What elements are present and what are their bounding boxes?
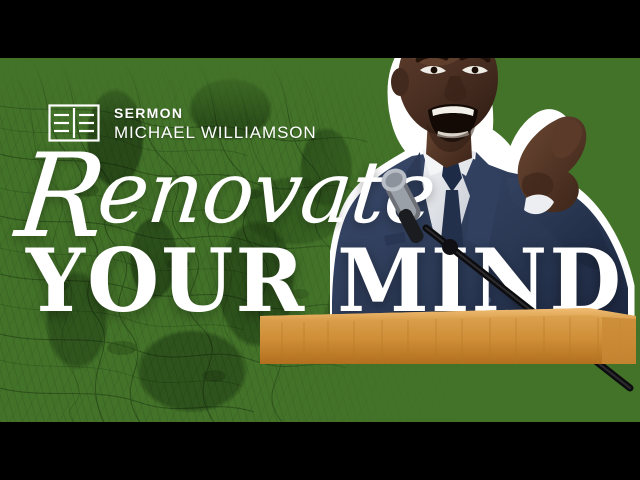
video-thumbnail: SERMON MICHAEL WILLIAMSON Renovate YOUR … — [0, 0, 640, 480]
open-book-icon — [48, 104, 100, 142]
header-lockup: SERMON MICHAEL WILLIAMSON — [48, 104, 317, 142]
microphone — [377, 164, 425, 245]
speaker-name: MICHAEL WILLIAMSON — [114, 124, 317, 141]
header-text-group: SERMON MICHAEL WILLIAMSON — [114, 106, 317, 141]
microphone-assembly — [330, 58, 640, 422]
podium-side — [602, 317, 636, 364]
letterbox-bar-bottom — [0, 422, 640, 480]
wooden-podium — [258, 300, 640, 364]
letterbox-bar-top — [0, 0, 640, 58]
sermon-label: SERMON — [114, 106, 317, 120]
